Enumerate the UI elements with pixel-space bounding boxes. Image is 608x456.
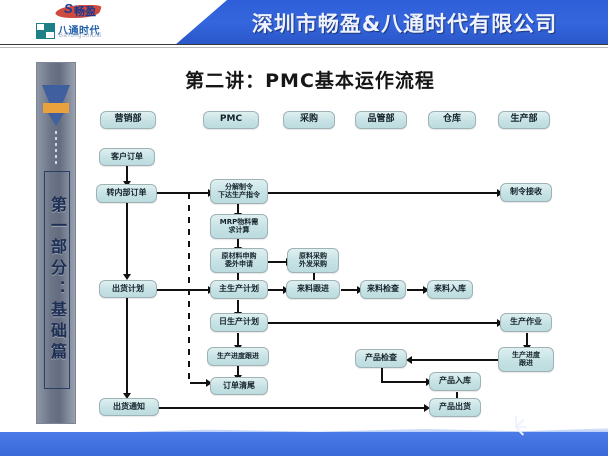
node-master-plan[interactable]: 主生产计划	[210, 280, 268, 299]
node-order-closeout[interactable]: 订单清尾	[210, 377, 268, 395]
node-material-inspect[interactable]: 来料检查	[360, 280, 406, 299]
connector-io-to-decompose	[156, 192, 211, 194]
dept-box-purchasing[interactable]: 采购	[283, 111, 335, 129]
node-product-shipout[interactable]: 产品出货	[429, 398, 481, 417]
dept-box-marketing[interactable]: 营销部	[100, 111, 156, 129]
section-label-text: 第一部分：基础篇	[45, 196, 69, 364]
pmc-boundary-dashed-line	[188, 193, 190, 382]
connector-pinspect-to-pinstock	[381, 381, 428, 383]
section-side-panel: 第一部分：基础篇	[36, 62, 76, 424]
logo-mark-cn: 畅盈	[74, 3, 96, 19]
node-production-work[interactable]: 生产作业	[500, 313, 552, 332]
connector-pinspect-down	[381, 368, 383, 382]
dept-box-warehouse[interactable]: 仓库	[428, 111, 476, 129]
header-divider-light	[0, 47, 608, 48]
dept-box-pmc[interactable]: PMC	[203, 111, 259, 129]
node-mrp-calc[interactable]: MRP物料需 求计算	[210, 214, 268, 239]
dept-box-quality[interactable]: 品管部	[355, 111, 407, 129]
node-material-follow[interactable]: 来料跟进	[286, 280, 340, 299]
node-production-progress[interactable]: 生产进度 跟进	[498, 347, 554, 372]
connector-sp-to-sn	[126, 296, 128, 395]
connector-sn-to-pship	[158, 407, 426, 409]
page-title: 第二讲：PMC基本运作流程	[120, 64, 500, 94]
header-divider	[0, 44, 608, 45]
node-product-instock[interactable]: 产品入库	[429, 372, 481, 391]
node-order-receive[interactable]: 制令接收	[500, 183, 552, 202]
logo-squares-icon	[36, 23, 55, 38]
company-title: 深圳市畅盈&八通时代有限公司	[175, 0, 608, 45]
sparkle-icon	[505, 416, 527, 438]
connector-decompose-to-receive	[267, 192, 500, 194]
node-shipping-notice[interactable]: 出货通知	[99, 398, 159, 416]
node-internal-order[interactable]: 转内部订单	[96, 184, 157, 203]
node-daily-plan[interactable]: 日生产计划	[210, 313, 268, 332]
slide-header: 深圳市畅盈&八通时代有限公司 S 畅盈 八通时代 BaTongShiDai	[0, 0, 608, 45]
section-label-box: 第一部分：基础篇	[44, 171, 70, 389]
logo-pinyin: BaTongShiDai	[59, 33, 102, 39]
header-blue-wedge: 深圳市畅盈&八通时代有限公司	[175, 0, 608, 45]
connector-sp-to-master	[156, 289, 211, 291]
connector-rprogress-to-pinspect	[411, 359, 498, 361]
node-customer-order[interactable]: 客户订单	[99, 148, 155, 166]
node-shipping-plan[interactable]: 出货计划	[99, 280, 157, 298]
node-material-purchase[interactable]: 原料采购 外发采购	[287, 248, 339, 273]
dept-box-production[interactable]: 生产部	[498, 111, 550, 129]
connector-io-to-sp	[126, 203, 128, 276]
node-material-instock[interactable]: 来料入库	[427, 280, 473, 299]
slide-canvas: 深圳市畅盈&八通时代有限公司 S 畅盈 八通时代 BaTongShiDai 第一…	[0, 0, 608, 456]
node-material-request[interactable]: 原材料申购 委外申请	[210, 248, 268, 273]
logo-swoosh-icon: S 畅盈	[54, 2, 106, 22]
company-logo: S 畅盈 八通时代 BaTongShiDai	[36, 2, 136, 42]
connector-daily-to-work	[267, 322, 500, 324]
funnel-icon	[41, 85, 71, 129]
node-progress-follow[interactable]: 生产进度跟进	[207, 347, 269, 366]
node-product-inspect[interactable]: 产品检查	[355, 349, 407, 368]
funnel-dash-line	[55, 131, 57, 165]
logo-s-letter: S	[64, 1, 73, 16]
node-decompose-order[interactable]: 分解制令 下达生产指令	[210, 179, 268, 204]
